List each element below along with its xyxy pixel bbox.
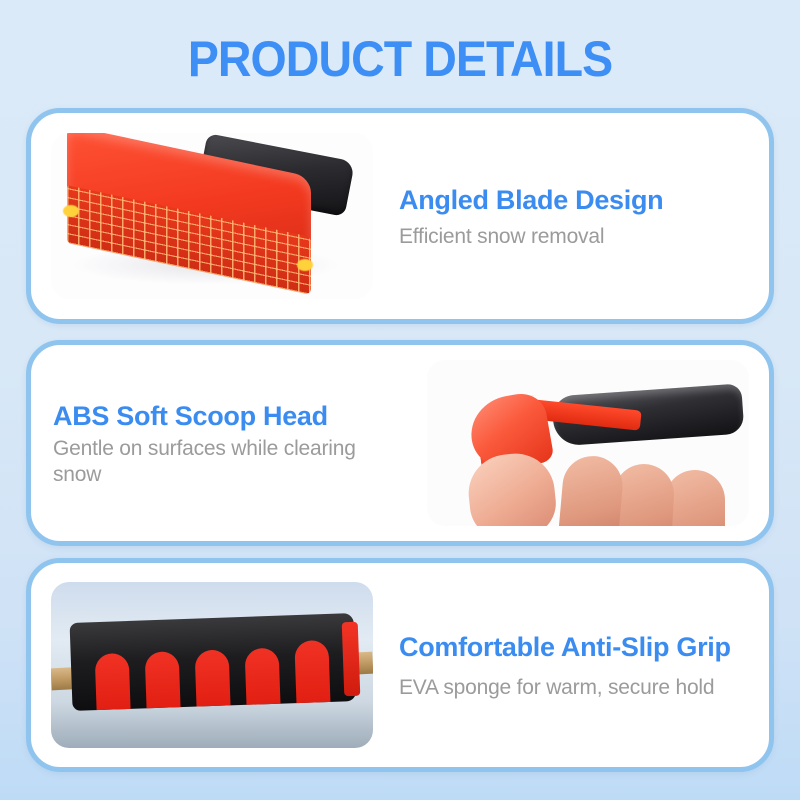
grip-red-groove [294, 640, 330, 709]
feature-card-angled-blade: Angled Blade Design Efficient snow remov… [26, 108, 774, 324]
feature-heading: ABS Soft Scoop Head [53, 399, 401, 434]
product-details-page: PRODUCT DETAILS Angled Blade Design Effi… [0, 0, 800, 800]
grip-red-end-cap [342, 622, 361, 697]
blade-tip-left [63, 205, 79, 217]
feature-text-soft-scoop: ABS Soft Scoop Head Gentle on surfaces w… [31, 399, 415, 488]
grip-red-groove [95, 653, 131, 711]
feature-heading: Angled Blade Design [399, 183, 751, 218]
page-title: PRODUCT DETAILS [28, 30, 772, 88]
feature-card-anti-slip-grip: Comfortable Anti-Slip Grip EVA sponge fo… [26, 558, 774, 772]
feature-image-angled-blade [51, 133, 373, 299]
feature-subtitle: Efficient snow removal [399, 224, 751, 250]
grip-black-foam [70, 613, 357, 711]
feature-subtitle: EVA sponge for warm, secure hold [399, 675, 751, 701]
feature-image-anti-slip-grip [51, 582, 373, 748]
grip-red-groove [245, 648, 281, 711]
feature-heading: Comfortable Anti-Slip Grip [399, 630, 751, 665]
feature-image-soft-scoop [427, 360, 749, 526]
feature-text-anti-slip-grip: Comfortable Anti-Slip Grip EVA sponge fo… [385, 630, 769, 701]
hand-finger-3 [665, 470, 725, 526]
grip-red-groove [145, 651, 181, 711]
blade-tip-right [297, 259, 313, 271]
feature-subtitle: Gentle on surfaces while clearing snow [53, 436, 401, 488]
feature-text-angled-blade: Angled Blade Design Efficient snow remov… [385, 183, 769, 250]
grip-red-groove [195, 649, 231, 710]
feature-card-soft-scoop: ABS Soft Scoop Head Gentle on surfaces w… [26, 340, 774, 546]
